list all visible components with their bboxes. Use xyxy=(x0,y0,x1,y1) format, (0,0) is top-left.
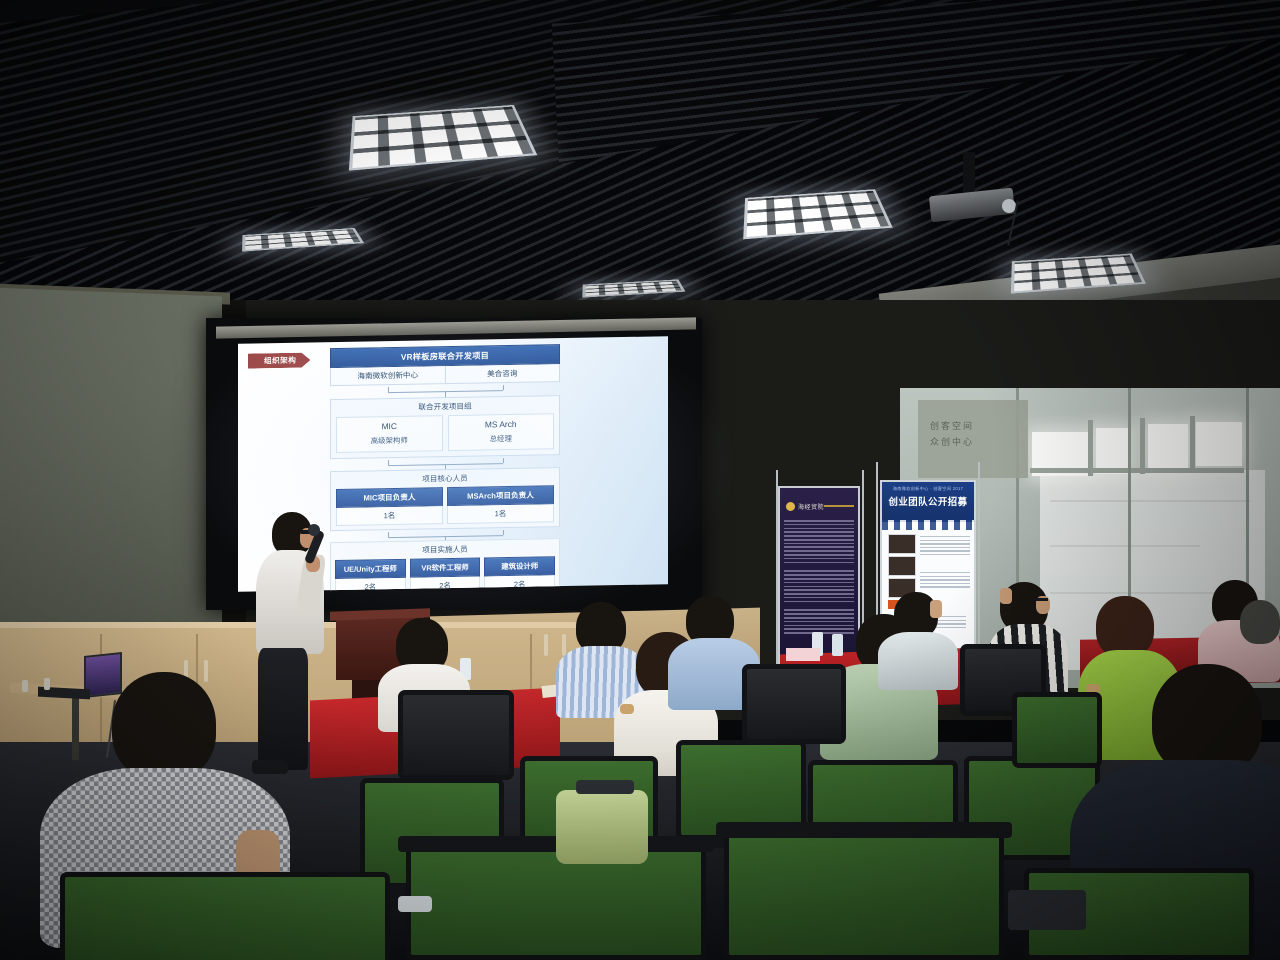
org-core-role: MSArch项目负责人 1名 xyxy=(447,485,554,524)
slide-section-tag: 组织架构 xyxy=(248,352,310,368)
microphone-head xyxy=(308,524,320,536)
wall-sign-line1: 创客空间 xyxy=(930,418,1022,434)
glasses-icon xyxy=(1034,598,1048,601)
window-pane xyxy=(1148,424,1188,470)
org-party: 美合咨询 xyxy=(445,365,560,384)
cabinet-handle[interactable] xyxy=(562,634,566,656)
org-group-box: 联合开发项目组 MIC 高级架构师 MS Arch 总经理 xyxy=(330,396,560,460)
banner-title: 创业团队公开招募 xyxy=(884,494,972,508)
poster-rule xyxy=(1050,545,1200,547)
name-card xyxy=(786,648,820,661)
org-party: 海南微软创新中心 xyxy=(331,367,445,386)
org-impl-role: VR软件工程师 2名 xyxy=(410,557,481,591)
window-mullion xyxy=(1190,416,1195,472)
org-cell-name: MIC xyxy=(337,421,442,433)
org-group-cell: MIC 高级架构师 xyxy=(336,416,443,453)
org-role-count: 1名 xyxy=(447,504,554,524)
banner-logo-icon xyxy=(786,502,795,511)
desk-leg xyxy=(72,694,79,760)
person-head xyxy=(112,672,216,780)
banner-rule xyxy=(824,505,854,507)
desk-item xyxy=(22,680,28,692)
banner-text-lines xyxy=(920,572,970,590)
org-role-label: 建筑设计师 xyxy=(484,556,555,576)
banner-photo xyxy=(888,556,916,576)
banner-eyebrow: 海南微软创新中心 · 创客空间 2017 xyxy=(890,486,966,492)
cabinet-handle[interactable] xyxy=(544,634,548,656)
poster-rule xyxy=(1050,592,1240,594)
org-core-role: MIC项目负责人 1名 xyxy=(336,487,443,526)
cabinet-handle[interactable] xyxy=(204,660,208,682)
org-impl-role: UE/Unity工程师 2名 xyxy=(335,559,406,592)
person-hand xyxy=(1000,588,1012,604)
banner-text-lines xyxy=(920,536,970,557)
org-cell-role: 高级架构师 xyxy=(337,434,442,447)
org-role-label: VR软件工程师 xyxy=(410,557,481,577)
org-role-label: MSArch项目负责人 xyxy=(447,485,554,506)
desk-item xyxy=(44,678,50,690)
laptop-bag xyxy=(576,780,634,794)
org-cell-role: 总经理 xyxy=(449,432,554,445)
wall-sign-text: 创客空间 众创中心 xyxy=(930,418,1022,450)
backpack xyxy=(556,790,648,864)
bracelet xyxy=(620,704,634,714)
org-impl-role: 建筑设计师 2名 xyxy=(484,556,555,592)
banner-zigzag-divider xyxy=(882,520,974,530)
banner-logo-label: 海经贸院 xyxy=(798,502,824,511)
water-bottle[interactable] xyxy=(832,634,843,656)
org-group-cells: MIC 高级架构师 MS Arch 总经理 xyxy=(336,414,554,453)
tablet-device[interactable] xyxy=(1008,890,1086,930)
poster-rule xyxy=(1050,500,1250,502)
org-chart: VR样板房联合开发项目 海南微软创新中心 美合咨询 联合开发项目组 MIC xyxy=(330,344,560,592)
window-pane xyxy=(1196,422,1242,466)
window-transom xyxy=(1030,468,1244,473)
window-mullion xyxy=(1140,418,1145,474)
person-head xyxy=(1240,600,1280,644)
org-role-count: 1名 xyxy=(336,506,443,526)
person-hand xyxy=(930,600,942,618)
org-core-roles: MIC项目负责人 1名 MSArch项目负责人 1名 xyxy=(336,485,554,526)
org-impl-roles: UE/Unity工程师 2名 VR软件工程师 2名 建筑设计师 2名 xyxy=(335,556,555,592)
org-cell-name: MS Arch xyxy=(449,419,554,431)
wall-sign-line2: 众创中心 xyxy=(930,434,1022,450)
person-torso xyxy=(878,632,958,690)
person-head xyxy=(1096,596,1154,658)
conference-room-photo: 创客空间 众创中心 海经贸院 海南微软创新中心 · 创客空间 2017 创业团队… xyxy=(0,0,1280,960)
org-group-cell: MS Arch 总经理 xyxy=(448,414,555,451)
org-implementation-box: 项目实施人员 UE/Unity工程师 2名 VR软件工程师 2名 建筑设计师 2 xyxy=(330,538,560,592)
presenter-shoe xyxy=(252,760,288,774)
water-bottle[interactable] xyxy=(398,896,432,912)
banner-body-text xyxy=(784,520,854,634)
left-wall-whiteboard xyxy=(0,288,222,677)
org-role-label: UE/Unity工程师 xyxy=(335,559,406,579)
banner-photo xyxy=(888,534,916,554)
presenter-pants xyxy=(258,648,308,770)
org-core-box: 项目核心人员 MIC项目负责人 1名 MSArch项目负责人 1名 xyxy=(330,467,560,531)
org-role-label: MIC项目负责人 xyxy=(336,487,443,508)
org-root-parties: 海南微软创新中心 美合咨询 xyxy=(330,365,560,387)
